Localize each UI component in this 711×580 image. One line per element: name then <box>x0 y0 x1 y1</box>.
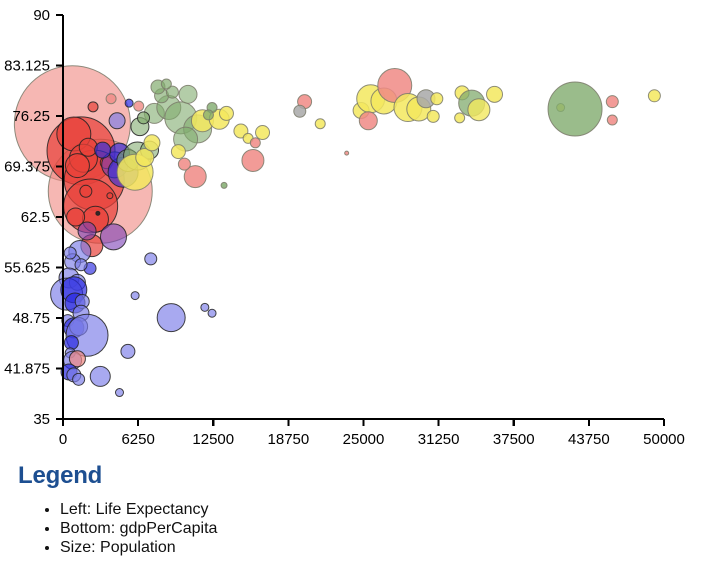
bubble-point[interactable] <box>548 82 602 136</box>
bubble-point[interactable] <box>106 94 116 104</box>
y-axis-tick-label: 41.875 <box>4 361 50 378</box>
legend-block: Legend Left: Life ExpectancyBottom: gdpP… <box>18 462 678 557</box>
bubble-point[interactable] <box>221 182 227 188</box>
bubble-point[interactable] <box>648 90 660 102</box>
bubble-point[interactable] <box>131 292 139 300</box>
bubble-point[interactable] <box>606 96 618 108</box>
bubble-point[interactable] <box>125 99 133 107</box>
x-axis-tick-label: 25000 <box>343 431 385 448</box>
bubble-point[interactable] <box>208 309 216 317</box>
bubble-series <box>14 66 660 397</box>
y-axis-tick-label: 55.625 <box>4 260 50 277</box>
bubble-point[interactable] <box>65 154 89 178</box>
bubble-point[interactable] <box>157 304 185 332</box>
x-axis-tick-label: 50000 <box>643 431 685 448</box>
bubble-point[interactable] <box>179 85 197 103</box>
y-axis-tick-label: 62.5 <box>21 209 50 226</box>
bubble-point[interactable] <box>100 224 126 250</box>
legend-item: Left: Life Expectancy <box>60 500 678 519</box>
y-axis-tick-label: 48.75 <box>12 310 50 327</box>
bubble-point[interactable] <box>95 142 111 158</box>
bubble-point[interactable] <box>219 106 233 120</box>
x-axis-tick-label: 6250 <box>121 431 154 448</box>
bubble-point[interactable] <box>455 113 465 123</box>
y-axis-tick-label: 69.375 <box>4 159 50 176</box>
bubble-point[interactable] <box>144 135 160 151</box>
bubble-point[interactable] <box>427 110 439 122</box>
chart-container: 3541.87548.7555.62562.569.37576.2583.125… <box>0 0 711 455</box>
bubble-point[interactable] <box>73 373 85 385</box>
bubble-point[interactable] <box>468 99 490 121</box>
y-axis-tick-label: 35 <box>33 411 50 428</box>
bubble-point[interactable] <box>78 222 96 240</box>
x-axis-tick-label: 31250 <box>418 431 460 448</box>
x-axis-tick-label: 37500 <box>493 431 535 448</box>
bubble-point[interactable] <box>107 193 113 199</box>
bubble-point[interactable] <box>145 253 157 265</box>
bubble-point[interactable] <box>294 105 306 117</box>
bubble-point[interactable] <box>315 119 325 129</box>
bubble-point[interactable] <box>203 110 213 120</box>
x-axis-tick-label: 43750 <box>568 431 610 448</box>
bubble-point[interactable] <box>88 102 98 112</box>
bubble-point[interactable] <box>178 158 190 170</box>
bubble-point[interactable] <box>134 101 144 111</box>
bubble-point[interactable] <box>345 151 349 155</box>
bubble-point[interactable] <box>80 185 92 197</box>
legend-item: Size: Population <box>60 538 678 557</box>
x-axis-tick-label: 18750 <box>268 431 310 448</box>
legend-list: Left: Life ExpectancyBottom: gdpPerCapit… <box>18 500 678 557</box>
bubble-point[interactable] <box>171 145 185 159</box>
y-axis-tick-label: 83.125 <box>4 58 50 75</box>
bubble-point[interactable] <box>64 247 76 259</box>
bubble-point[interactable] <box>431 93 443 105</box>
scatter-plot-svg[interactable]: 3541.87548.7555.62562.569.37576.2583.125… <box>0 0 711 455</box>
bubble-point[interactable] <box>121 344 135 358</box>
bubble-point[interactable] <box>79 138 97 156</box>
x-axis-tick-label: 12500 <box>192 431 234 448</box>
bubble-chart-page: 3541.87548.7555.62562.569.37576.2583.125… <box>0 0 711 580</box>
bubble-point[interactable] <box>487 86 503 102</box>
bubble-point[interactable] <box>201 303 209 311</box>
bubble-point[interactable] <box>250 138 260 148</box>
legend-item: Bottom: gdpPerCapita <box>60 519 678 538</box>
bubble-point[interactable] <box>64 336 78 350</box>
bubble-point[interactable] <box>607 115 617 125</box>
bubble-point[interactable] <box>96 211 100 215</box>
bubble-point[interactable] <box>109 113 125 129</box>
bubble-point[interactable] <box>75 259 87 271</box>
y-axis-tick-label: 90 <box>33 7 50 24</box>
legend-title: Legend <box>18 462 678 490</box>
bubble-point[interactable] <box>242 149 264 171</box>
bubble-point[interactable] <box>90 366 110 386</box>
bubble-point[interactable] <box>256 126 270 140</box>
bubble-point[interactable] <box>359 112 377 130</box>
bubble-point[interactable] <box>161 79 171 89</box>
x-axis-tick-label: 0 <box>59 431 67 448</box>
y-axis-tick-label: 76.25 <box>12 108 50 125</box>
bubble-point[interactable] <box>115 389 123 397</box>
bubble-point[interactable] <box>138 112 150 124</box>
